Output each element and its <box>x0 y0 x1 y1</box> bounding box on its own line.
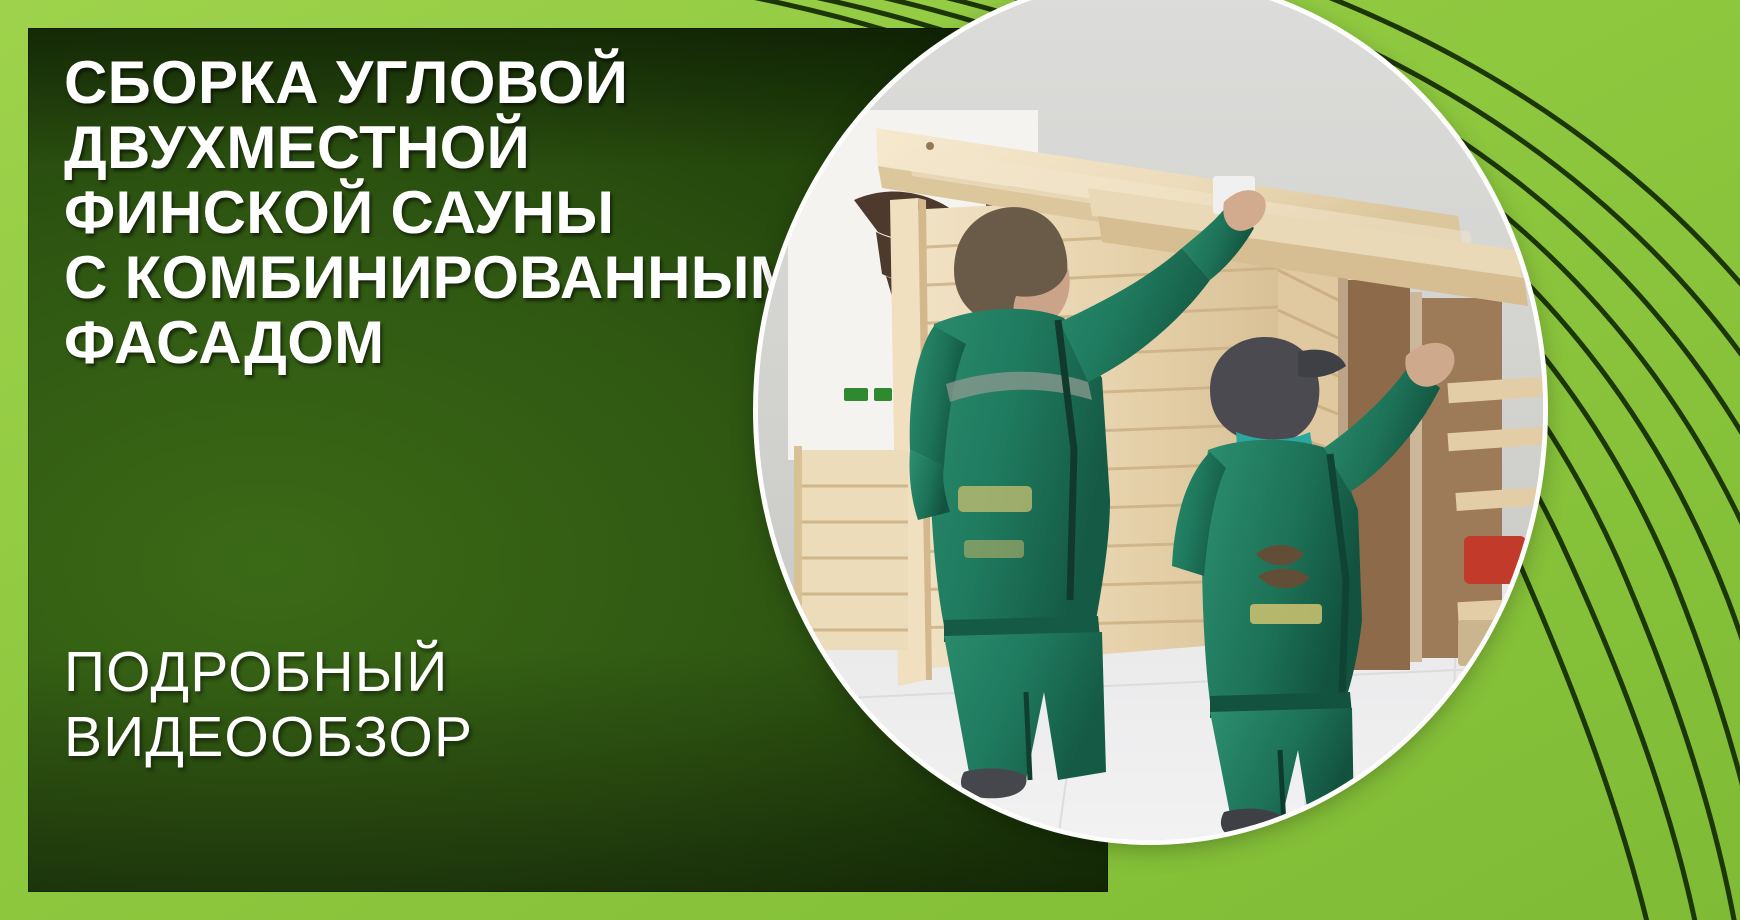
photo-scene <box>758 0 1543 840</box>
circular-photo <box>758 0 1543 840</box>
video-thumbnail: СБОРКА УГЛОВОЙ ДВУХМЕСТНОЙ ФИНСКОЙ САУНЫ… <box>0 0 1740 920</box>
